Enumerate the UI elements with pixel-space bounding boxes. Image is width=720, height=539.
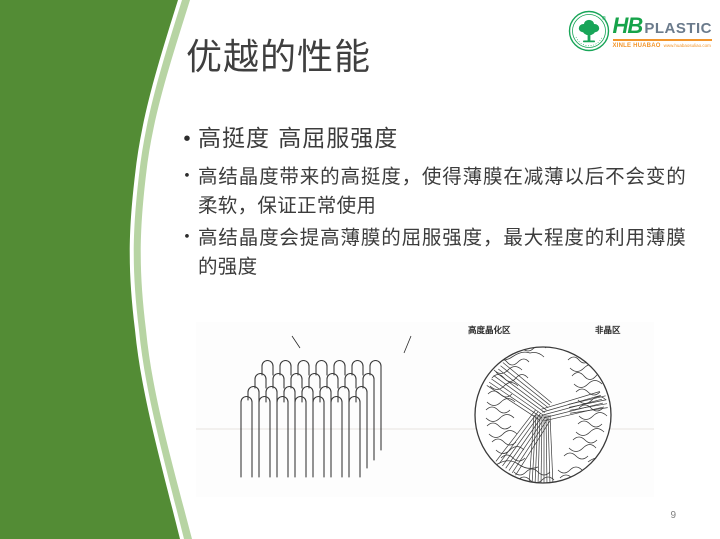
bullet-text: 高结晶度带来的高挺度，使得薄膜在减薄以后不会变的柔软，保证正常使用: [198, 162, 686, 220]
logo-hb-text: HB: [613, 16, 643, 36]
bullet-item-3: • 高结晶度会提高薄膜的屈服强度，最大程度的利用薄膜的强度: [176, 223, 686, 281]
bullet-marker: •: [176, 123, 198, 155]
slide-canvas: ® HB PLASTIC XINLE HUABAO www.huabaosuli…: [0, 0, 720, 539]
svg-text:®: ®: [601, 15, 606, 22]
figure-drawing: [196, 322, 654, 497]
bullet-marker: •: [176, 162, 198, 191]
decoration-light-stripe: [0, 0, 192, 539]
figure-image: 高度晶化区 非晶区: [196, 322, 654, 497]
bullet-marker: •: [176, 223, 198, 252]
slide-title: 优越的性能: [186, 36, 666, 80]
figure-label-amorphous-region: 非晶区: [595, 324, 621, 336]
bullet-text: 高结晶度会提高薄膜的屈服强度，最大程度的利用薄膜的强度: [198, 223, 686, 281]
bullet-text: 高挺度 高屈服强度: [198, 123, 686, 155]
figure-leader-lines: [292, 336, 411, 353]
folded-chain-lamella-diagram: [241, 361, 381, 478]
bullet-list: • 高挺度 高屈服强度 • 高结晶度带来的高挺度，使得薄膜在减薄以后不会变的柔软…: [176, 123, 686, 284]
page-number: 9: [670, 510, 676, 521]
decoration-green-body: [0, 0, 180, 539]
figure-label-crystalline-region: 高度晶化区: [468, 324, 511, 336]
logo-website-text: www.huabaosuliao.com: [664, 42, 711, 49]
bullet-item-2: • 高结晶度带来的高挺度，使得薄膜在减薄以后不会变的柔软，保证正常使用: [176, 162, 686, 220]
decoration-white-gap: [0, 0, 184, 539]
bullet-item-1: • 高挺度 高屈服强度: [176, 123, 686, 155]
